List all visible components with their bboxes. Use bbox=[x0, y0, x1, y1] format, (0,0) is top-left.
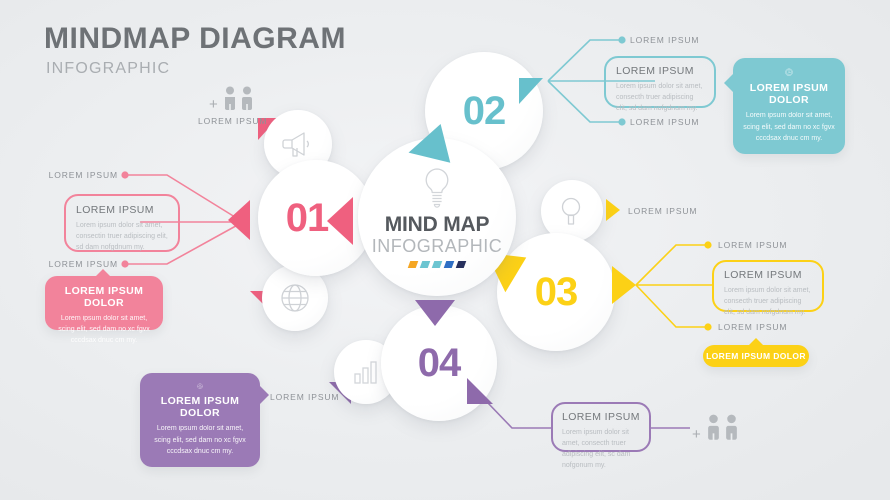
purple-solid-body: Lorem ipsum dolor sit amet, scing elit, … bbox=[149, 423, 251, 457]
pink-solid-body: Lorem ipsum dolor sit amet, scing elit, … bbox=[55, 313, 153, 347]
pie-chart-icon bbox=[181, 383, 219, 389]
pink-bottom-label: LOREM IPSUM bbox=[49, 259, 118, 269]
purple-card-body: Lorem ipsum dolor sit amet, consecth tru… bbox=[562, 428, 640, 471]
pointer-triangle-pink-outer bbox=[228, 200, 250, 240]
pink-card-title: LOREM IPSUM bbox=[76, 204, 168, 216]
pink-solid-notch bbox=[94, 269, 112, 278]
yellow-search-label: LOREM IPSUM bbox=[628, 206, 697, 216]
pointer-triangle-purple-inner bbox=[415, 300, 455, 326]
globe-icon bbox=[279, 282, 311, 314]
teal-card-title: LOREM IPSUM bbox=[616, 65, 704, 77]
infographic-canvas: MINDMAP DIAGRAM INFOGRAPHIC bbox=[0, 0, 890, 500]
teal-solid-card[interactable]: LOREM IPSUM DOLOR Lorem ipsum dolor sit … bbox=[733, 58, 845, 154]
hub-dash-row bbox=[409, 261, 465, 268]
hub-dash-3 bbox=[444, 261, 455, 268]
people-group-top-left: + bbox=[209, 86, 254, 112]
bar-chart-icon bbox=[352, 359, 380, 385]
node-number-04: 04 bbox=[418, 343, 461, 383]
megaphone-icon bbox=[281, 129, 315, 159]
pointer-triangle-teal-outer bbox=[519, 78, 543, 104]
pointer-triangle-yellow-outer bbox=[612, 266, 636, 304]
yellow-pill-notch bbox=[748, 338, 764, 346]
yellow-card-title: LOREM IPSUM bbox=[724, 269, 812, 281]
plus-sign: + bbox=[692, 427, 701, 442]
purple-solid-title: LOREM IPSUM DOLOR bbox=[149, 395, 251, 419]
teal-solid-title: LOREM IPSUM DOLOR bbox=[742, 82, 836, 106]
pointer-triangle-purple-outer bbox=[467, 378, 493, 404]
person-icon bbox=[240, 86, 254, 112]
pointer-triangle-pink-inner bbox=[327, 197, 353, 245]
pink-solid-card[interactable]: LOREM IPSUM DOLOR Lorem ipsum dolor sit … bbox=[45, 276, 163, 330]
yellow-top-label: LOREM IPSUM bbox=[718, 240, 787, 250]
hub-subtitle: INFOGRAPHIC bbox=[372, 237, 503, 255]
people-group-bottom-right: + bbox=[692, 414, 739, 442]
yellow-card-body: Lorem ipsum dolor sit amet, consecth tru… bbox=[724, 286, 812, 319]
yellow-bottom-label: LOREM IPSUM bbox=[718, 322, 787, 332]
teal-solid-body: Lorem ipsum dolor sit amet, scing elit, … bbox=[742, 110, 836, 144]
node-number-03: 03 bbox=[535, 272, 578, 312]
teal-top-label: LOREM IPSUM bbox=[630, 35, 699, 45]
yellow-pill[interactable]: LOREM IPSUM DOLOR bbox=[703, 345, 809, 367]
hub-dash-2 bbox=[432, 261, 443, 268]
purple-solid-card[interactable]: LOREM IPSUM DOLOR Lorem ipsum dolor sit … bbox=[140, 373, 260, 467]
yellow-pill-title: LOREM IPSUM DOLOR bbox=[706, 351, 806, 361]
people-group-top-left-label: LOREM IPSUM bbox=[198, 116, 267, 126]
search-icon bbox=[558, 195, 586, 227]
person-icon bbox=[223, 86, 237, 112]
purple-chart-label: LOREM IPSUM bbox=[270, 392, 339, 402]
pink-card-body: Lorem ipsum dolor sit amet, consectin tr… bbox=[76, 221, 168, 254]
lightbulb-icon bbox=[420, 166, 454, 210]
purple-card[interactable]: LOREM IPSUM Lorem ipsum dolor sit amet, … bbox=[551, 402, 651, 452]
hub-dash-4 bbox=[456, 261, 467, 268]
purple-card-title: LOREM IPSUM bbox=[562, 411, 640, 423]
teal-solid-notch bbox=[724, 74, 733, 92]
node-circle-01[interactable]: 01 bbox=[258, 160, 374, 276]
purple-solid-notch bbox=[260, 386, 269, 404]
pink-solid-title: LOREM IPSUM DOLOR bbox=[55, 285, 153, 309]
hub-dash-0 bbox=[408, 261, 419, 268]
pointer-triangle-yellow-search bbox=[606, 199, 620, 221]
teal-bottom-label: LOREM IPSUM bbox=[630, 117, 699, 127]
person-icon bbox=[706, 414, 721, 442]
pink-card[interactable]: LOREM IPSUM Lorem ipsum dolor sit amet, … bbox=[64, 194, 180, 252]
hub-title: MIND MAP bbox=[385, 214, 490, 235]
yellow-card[interactable]: LOREM IPSUM Lorem ipsum dolor sit amet, … bbox=[712, 260, 824, 312]
person-icon bbox=[724, 414, 739, 442]
teal-card[interactable]: LOREM IPSUM Lorem ipsum dolor sit amet, … bbox=[604, 56, 716, 108]
node-number-02: 02 bbox=[463, 91, 506, 131]
pink-top-label: LOREM IPSUM bbox=[49, 170, 118, 180]
hub-dash-1 bbox=[420, 261, 431, 268]
teal-card-body: Lorem ipsum dolor sit amet, consecth tru… bbox=[616, 82, 704, 115]
clock-icon bbox=[771, 68, 807, 76]
plus-sign: + bbox=[209, 97, 218, 112]
node-number-01: 01 bbox=[286, 198, 329, 238]
